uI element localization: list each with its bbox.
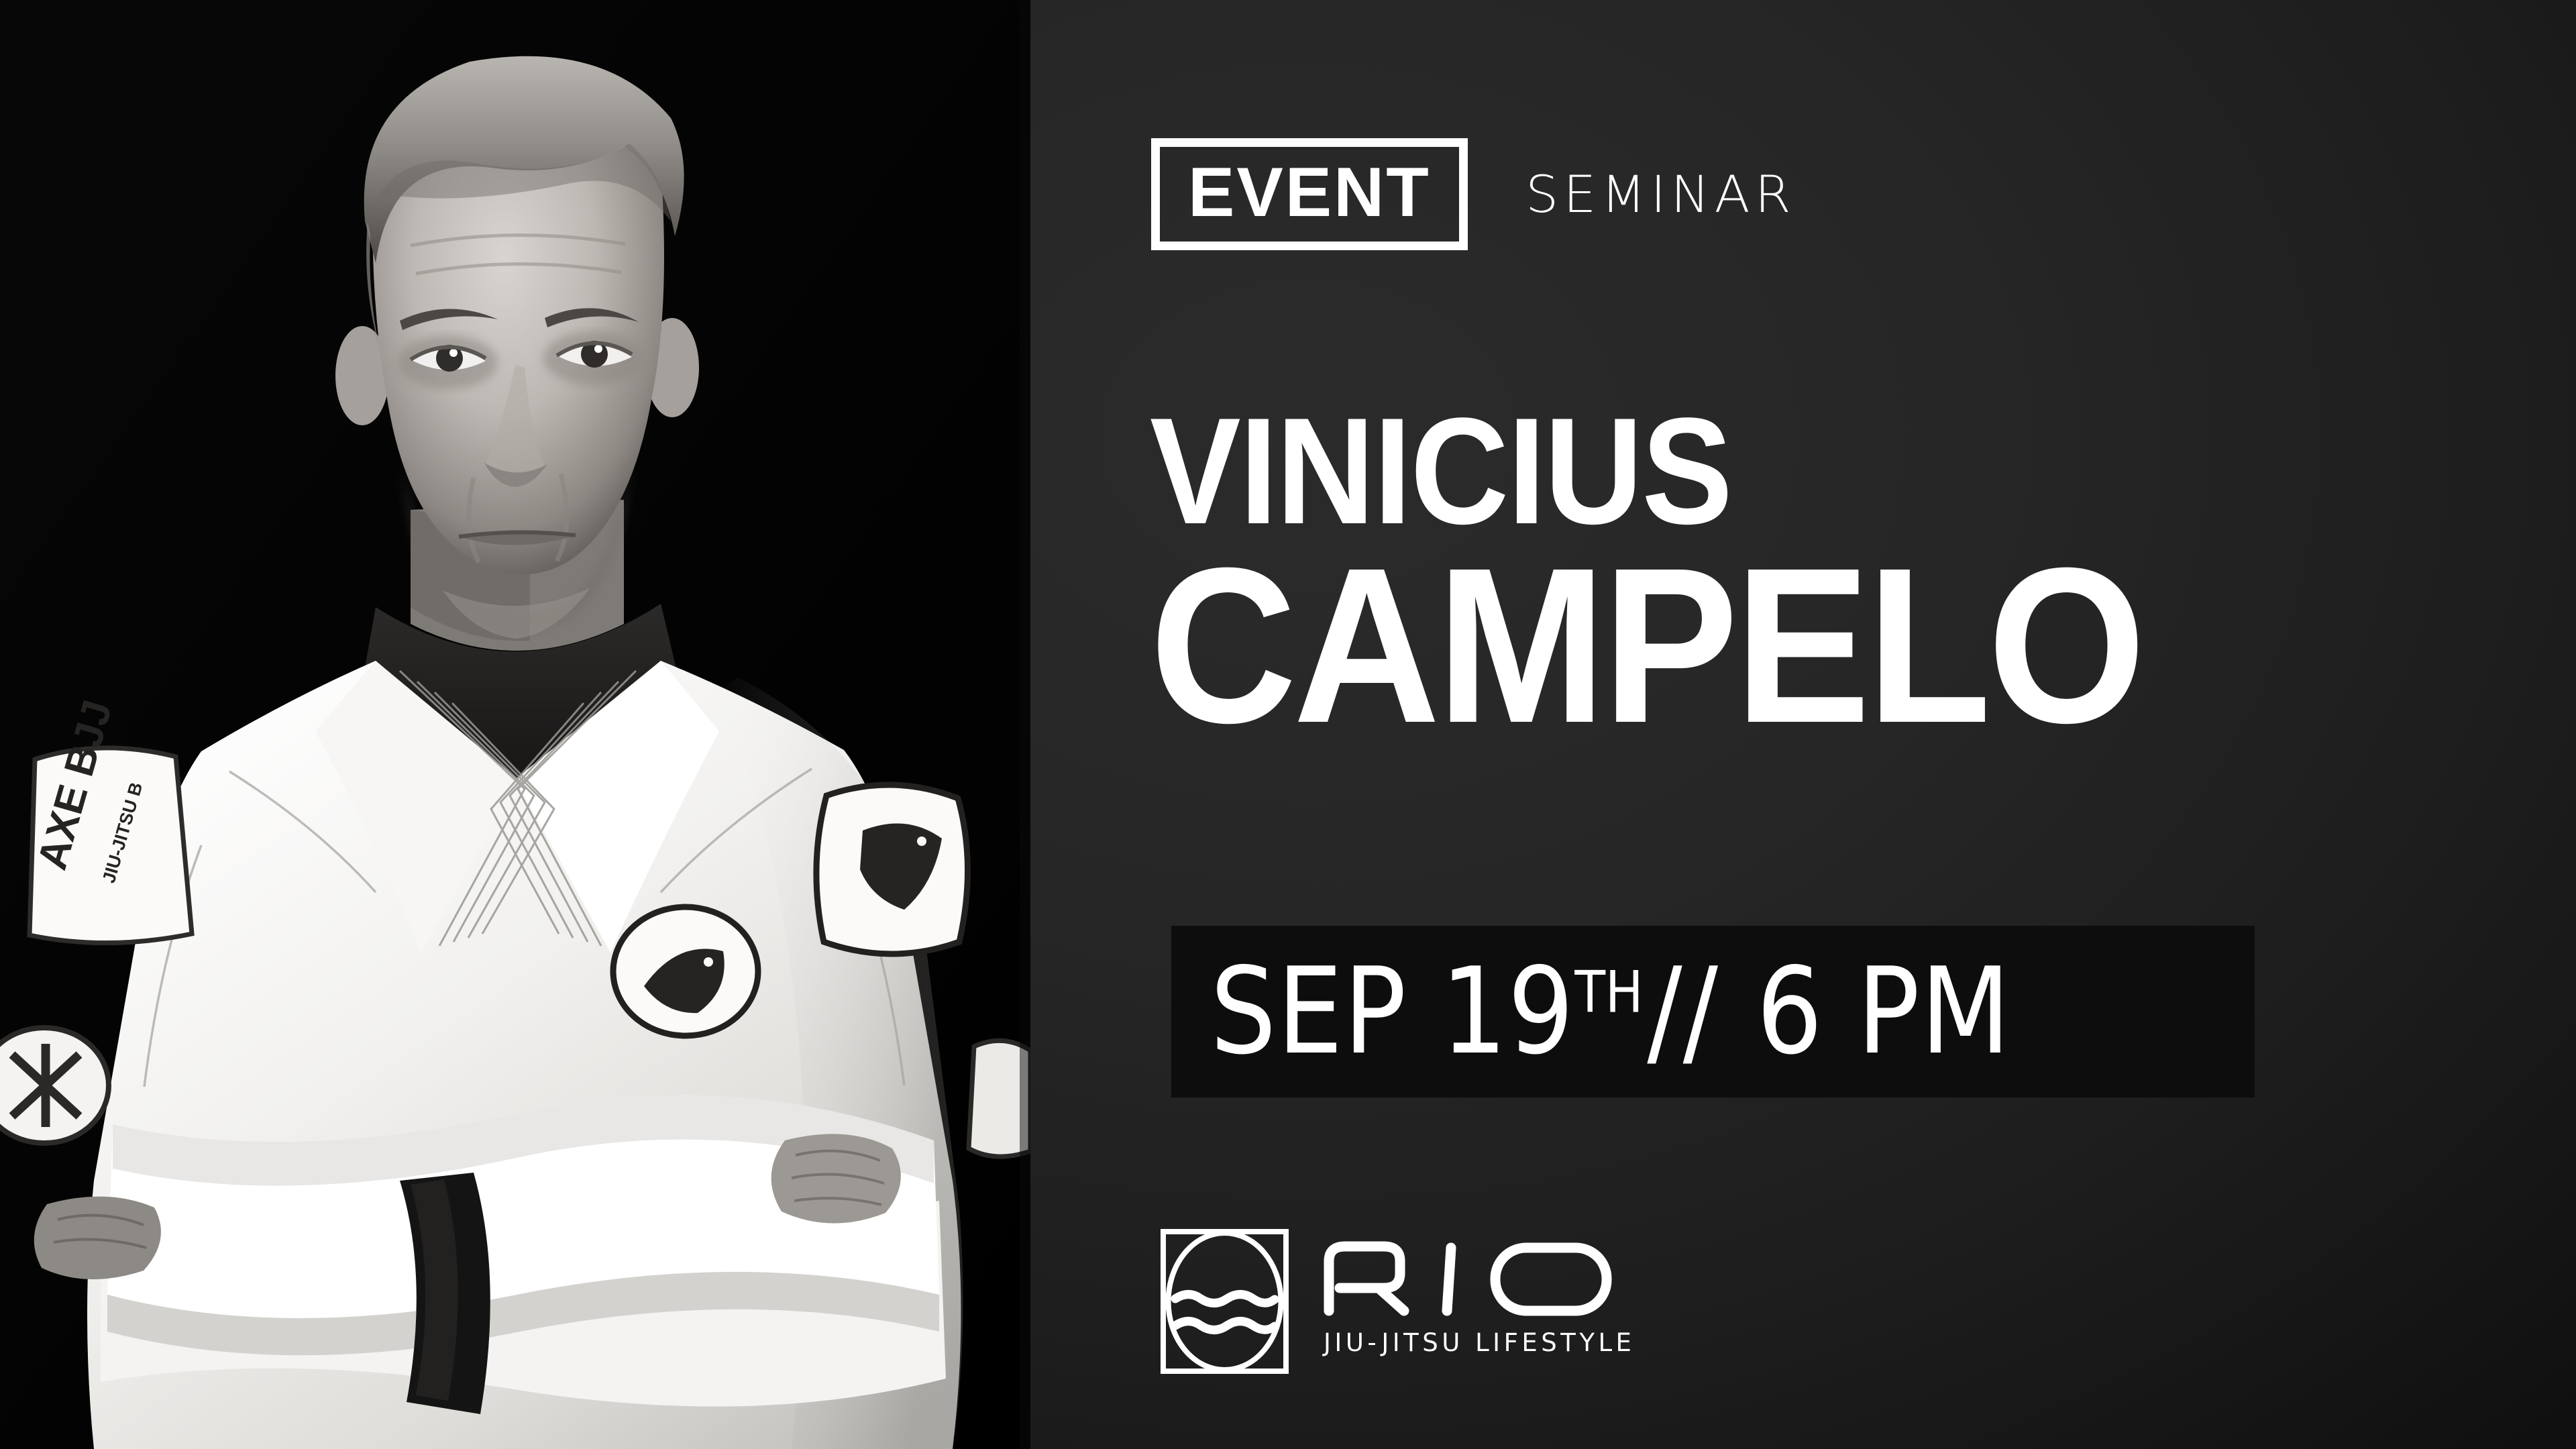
event-badge-label: EVENT (1188, 164, 1431, 221)
patch-right-shoulder (816, 785, 968, 954)
event-time: 6 PM (1756, 942, 2011, 1081)
date-separator: // (1643, 942, 1722, 1081)
rio-logo-tagline: JIU-JITSU LIFESTYLE (1324, 1328, 1635, 1357)
rio-wordmark (1320, 1237, 1615, 1316)
date-ordinal-suffix: TH (1574, 959, 1643, 1026)
page-title: VINICIUS CAMPELO (1150, 402, 2229, 745)
date-time-band: SEP 19TH// 6 PM (1171, 926, 2255, 1097)
rio-logo: JIU-JITSU LIFESTYLE (1159, 1228, 1635, 1375)
patch-left-arm (0, 1028, 109, 1143)
event-header-row: EVENT SEMINAR (1151, 138, 1790, 250)
seminar-kicker: SEMINAR (1525, 164, 1796, 224)
portrait-photo: AXE BJJ JIU-JITSU B (0, 0, 1030, 1449)
title-first-name: VINICIUS (1150, 402, 2121, 539)
content-panel: EVENT SEMINAR VINICIUS CAMPELO SEP 19TH/… (1030, 0, 2576, 1449)
rio-logo-mark (1159, 1228, 1290, 1375)
title-last-name: CAMPELO (1150, 545, 2142, 745)
portrait-illustration: AXE BJJ JIU-JITSU B (0, 0, 1030, 1449)
date-month-day: SEP 19 (1210, 942, 1574, 1081)
rio-logo-type: JIU-JITSU LIFESTYLE (1320, 1228, 1635, 1357)
patch-chest (613, 907, 758, 1036)
event-badge: EVENT (1151, 138, 1468, 250)
date-time-text: SEP 19TH// 6 PM (1210, 952, 2011, 1071)
event-poster: AXE BJJ JIU-JITSU B (0, 0, 2576, 1449)
